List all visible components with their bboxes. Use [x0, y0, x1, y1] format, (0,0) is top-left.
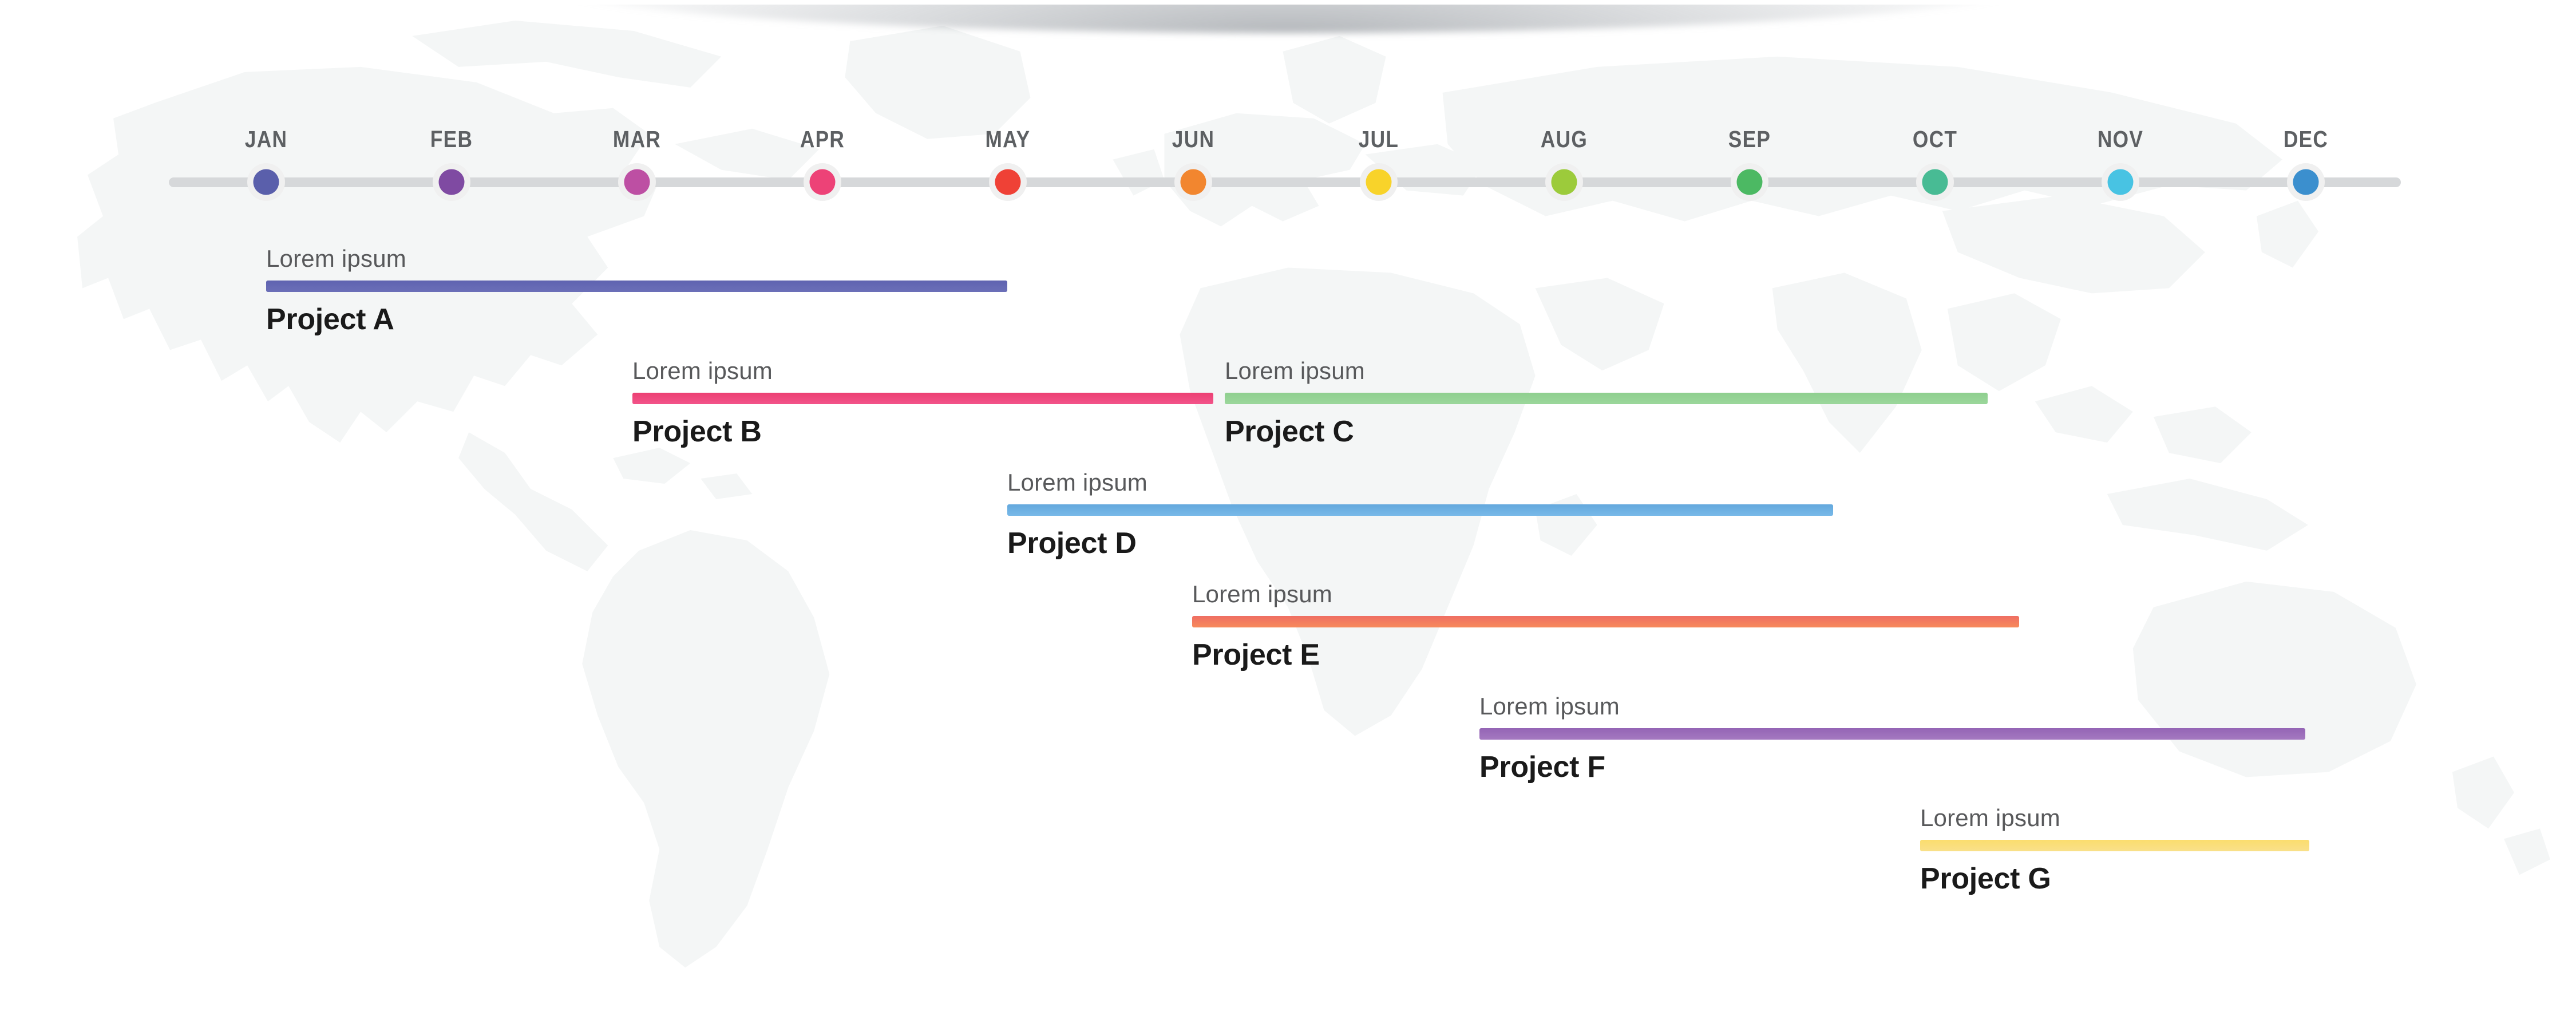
project-duration-bar[interactable]	[1920, 840, 2309, 851]
timeline-slide: JANFEBMARAPRMAYJUNJULAUGSEPOCTNOVDEC Lor…	[0, 0, 2576, 1019]
project-title: Project G	[1920, 862, 2051, 896]
project-row-g[interactable]: Lorem ipsumProject G	[0, 0, 2576, 1019]
project-subtitle: Lorem ipsum	[1920, 804, 2060, 832]
